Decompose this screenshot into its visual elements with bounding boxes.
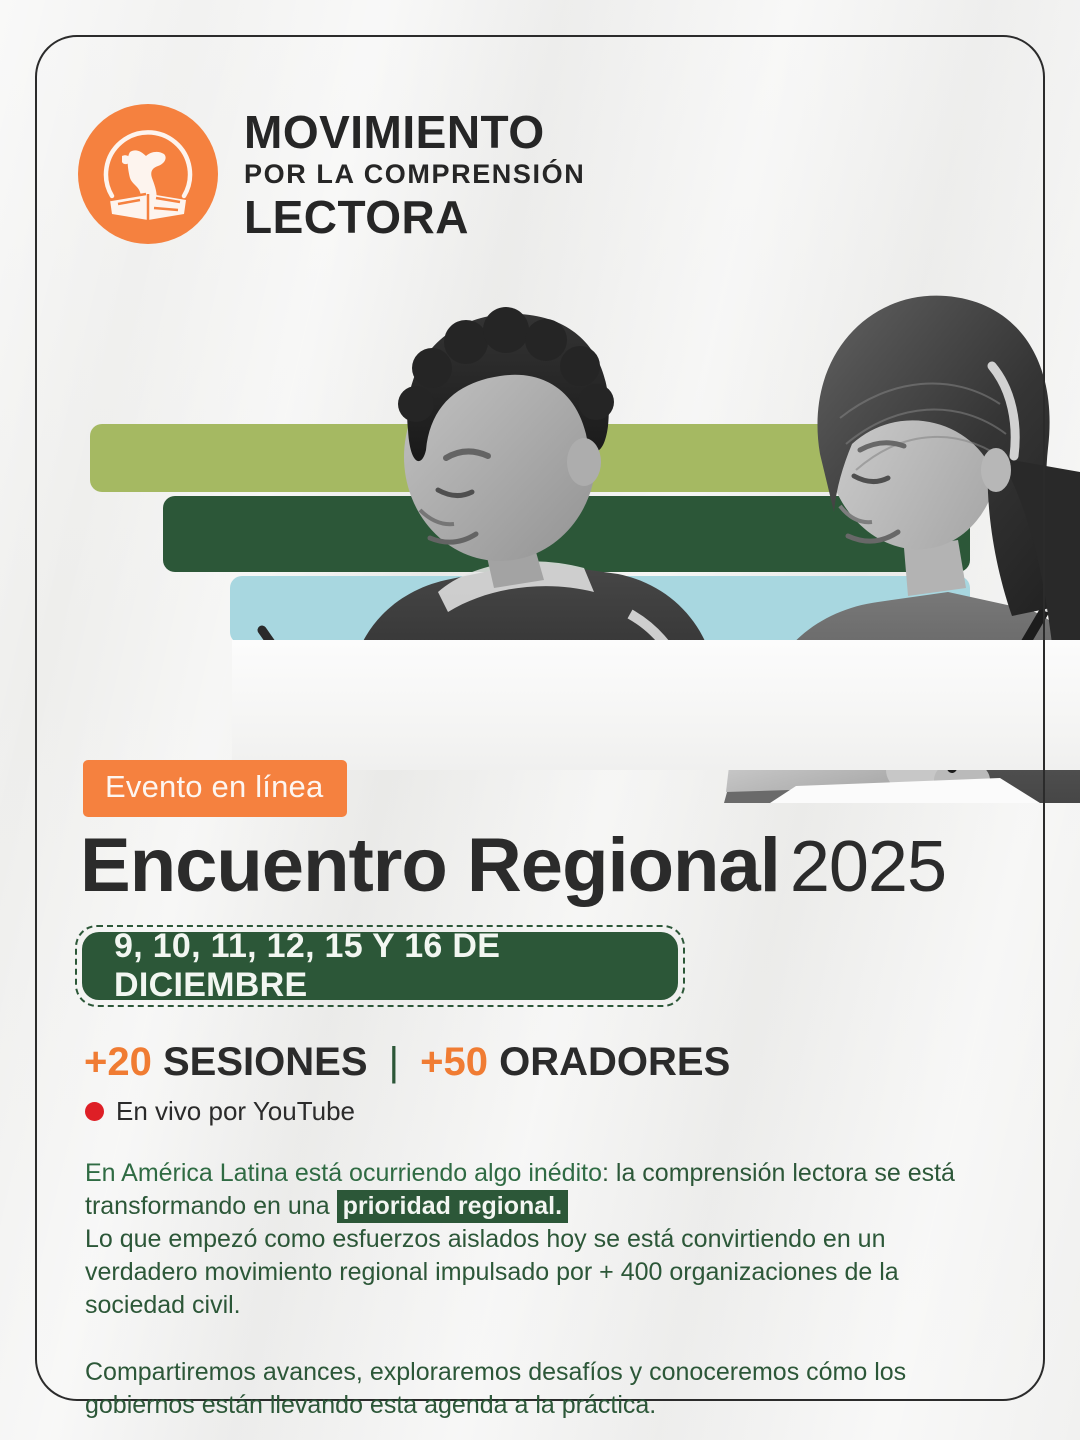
brand-line-lectora: LECTORA xyxy=(244,194,585,240)
live-stream-note: En vivo por YouTube xyxy=(85,1096,355,1127)
body-lead: En América Latina está ocurriendo algo i… xyxy=(85,1159,602,1187)
brand-logo: MOVIMIENTO POR LA COMPRENSIÓN LECTORA xyxy=(78,104,585,244)
body-p2-orgs: + 400 organizaciones xyxy=(599,1258,837,1286)
event-dates-pill: 9, 10, 11, 12, 15 Y 16 DE DICIEMBRE xyxy=(82,932,678,1000)
stats-divider: | xyxy=(389,1040,399,1084)
brand-line-movimiento: MOVIMIENTO xyxy=(244,109,585,155)
live-dot-icon xyxy=(85,1102,104,1121)
brand-line-por-la-comprension: POR LA COMPRENSIÓN xyxy=(244,161,585,188)
event-dates: 9, 10, 11, 12, 15 Y 16 DE DICIEMBRE xyxy=(75,925,685,1007)
speakers-count: +50 xyxy=(420,1040,488,1084)
online-event-badge: Evento en línea xyxy=(83,760,347,817)
body-paragraph-2: Lo que empezó como esfuerzos aislados ho… xyxy=(85,1223,985,1322)
speakers-label: ORADORES xyxy=(499,1040,730,1084)
sessions-count: +20 xyxy=(84,1040,152,1084)
event-stats: +20 SESIONES | +50 ORADORES xyxy=(84,1040,730,1085)
body-highlight: prioridad regional. xyxy=(337,1190,568,1223)
title-year: 2025 xyxy=(790,827,946,907)
body-paragraph-1: En América Latina está ocurriendo algo i… xyxy=(85,1157,985,1223)
sessions-label: SESIONES xyxy=(163,1040,368,1084)
page-title: Encuentro Regional2025 xyxy=(80,822,946,909)
body-copy: En América Latina está ocurriendo algo i… xyxy=(85,1157,985,1422)
live-label: En vivo por YouTube xyxy=(116,1096,355,1127)
latin-america-open-book-icon xyxy=(78,104,218,244)
body-paragraph-3: Compartiremos avances, exploraremos desa… xyxy=(85,1356,985,1422)
event-dates-label: 9, 10, 11, 12, 15 Y 16 DE DICIEMBRE xyxy=(82,927,678,1005)
title-main: Encuentro Regional xyxy=(80,823,780,908)
